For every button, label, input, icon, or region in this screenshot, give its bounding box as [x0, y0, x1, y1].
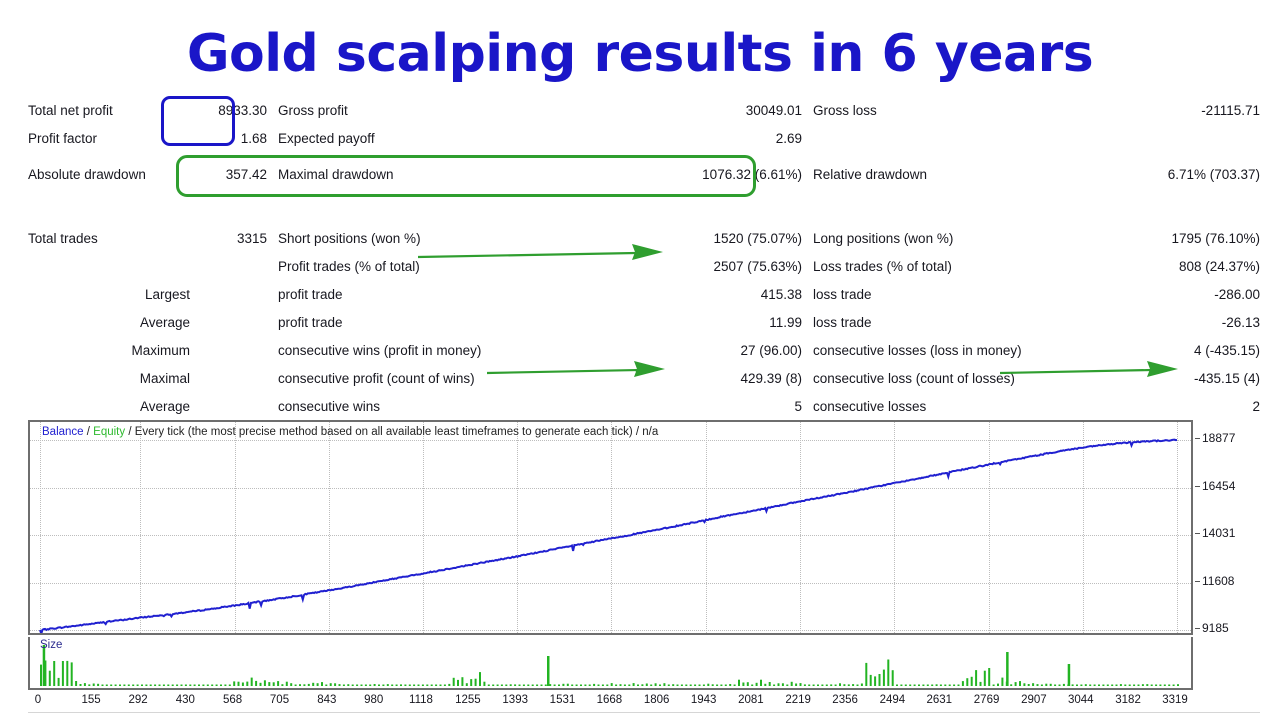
- y-axis-tick: 18877: [1202, 431, 1235, 445]
- table-row: Maximal consecutive profit (count of win…: [28, 364, 1260, 392]
- size-bar: [567, 684, 569, 686]
- size-bar: [1142, 684, 1144, 686]
- size-bar: [321, 682, 323, 686]
- size-bar: [88, 684, 90, 686]
- row-label-mid: Maximal drawdown: [273, 152, 668, 196]
- size-bar: [255, 681, 257, 686]
- size-bar: [167, 685, 169, 687]
- strategy-report-table: Total net profit 8933.30 Gross profit 30…: [28, 96, 1260, 420]
- size-bar: [997, 684, 999, 686]
- size-bar: [694, 685, 696, 687]
- size-bar: [84, 683, 86, 686]
- size-bar: [1050, 684, 1052, 686]
- row-value-right: -286.00: [1108, 280, 1260, 308]
- size-bar: [128, 685, 130, 687]
- row-label-right: Long positions (won %): [808, 224, 1108, 252]
- size-bar: [194, 685, 196, 687]
- size-bar: [387, 684, 389, 686]
- size-bar: [391, 685, 393, 687]
- size-bar: [277, 681, 279, 686]
- row-label-right: Relative drawdown: [808, 152, 1108, 196]
- row-label-mid: Gross profit: [273, 96, 668, 124]
- size-bar: [1151, 685, 1153, 687]
- size-bar: [936, 684, 938, 686]
- size-bar: [246, 682, 248, 686]
- size-bar: [251, 678, 253, 686]
- size-bar: [1146, 684, 1148, 686]
- y-axis-tick: 14031: [1202, 526, 1235, 540]
- size-bar: [663, 683, 665, 686]
- size-bar: [764, 684, 766, 686]
- table-row: Profit trades (% of total) 2507 (75.63%)…: [28, 252, 1260, 280]
- row-label: Profit factor: [28, 124, 198, 152]
- size-bar: [299, 684, 301, 686]
- size-bar: [1102, 685, 1104, 687]
- size-bar: [791, 682, 793, 686]
- size-bar: [1076, 685, 1078, 687]
- size-bar: [593, 684, 595, 686]
- size-bar: [488, 685, 490, 687]
- x-axis-tick: 2219: [785, 694, 811, 706]
- size-bar: [615, 685, 617, 687]
- row-label-mid: profit trade: [273, 280, 668, 308]
- size-bar: [238, 682, 240, 686]
- size-bar: [909, 685, 911, 687]
- size-bar: [545, 685, 547, 687]
- size-bar: [150, 685, 152, 687]
- size-bar: [747, 682, 749, 686]
- size-bar: [1045, 684, 1047, 686]
- size-bar: [703, 685, 705, 687]
- x-axis-tick: 1531: [550, 694, 576, 706]
- size-bar-peak: [547, 656, 550, 686]
- size-bar: [233, 681, 235, 686]
- size-bar: [541, 685, 543, 687]
- row-value-right: 1795 (76.10%): [1108, 224, 1260, 252]
- size-bar: [900, 685, 902, 687]
- size-bar: [62, 661, 64, 686]
- x-axis-tick: 3044: [1068, 694, 1094, 706]
- size-bar: [1177, 684, 1179, 686]
- size-bar: [461, 677, 463, 686]
- size-bar: [527, 685, 529, 687]
- size-bar: [172, 685, 174, 687]
- size-bar: [497, 685, 499, 687]
- row-label-right: Gross loss: [808, 96, 1108, 124]
- size-bar: [896, 685, 898, 687]
- size-bar: [1023, 683, 1025, 686]
- size-bar: [580, 685, 582, 687]
- row-value-mid: 2.69: [668, 124, 808, 152]
- size-bar: [53, 661, 55, 686]
- size-bar: [628, 685, 630, 687]
- size-bar: [1072, 684, 1074, 686]
- size-bar: [659, 685, 661, 687]
- size-bar: [685, 685, 687, 687]
- size-bar: [431, 685, 433, 687]
- size-bar: [273, 682, 275, 686]
- size-bar: [562, 684, 564, 686]
- legend-sep-2: /: [125, 426, 135, 438]
- row-label: Maximum: [28, 336, 198, 364]
- size-bar: [106, 685, 108, 687]
- row-value: 3315: [198, 224, 273, 252]
- size-bar: [532, 685, 534, 687]
- size-bar: [817, 685, 819, 687]
- size-subchart-panel[interactable]: Size: [28, 637, 1193, 690]
- size-bar: [347, 684, 349, 686]
- size-bar: [119, 685, 121, 687]
- size-bar: [554, 685, 556, 687]
- row-label: Average: [28, 392, 198, 420]
- x-axis-tick: 430: [176, 694, 195, 706]
- x-axis-tick: 155: [82, 694, 101, 706]
- size-bar: [1120, 684, 1122, 686]
- x-axis-tick: 705: [270, 694, 289, 706]
- x-axis-tick: 568: [223, 694, 242, 706]
- size-bar: [1041, 685, 1043, 687]
- size-bar: [624, 685, 626, 687]
- size-bar: [958, 685, 960, 687]
- equity-chart-panel[interactable]: Balance / Equity / Every tick (the most …: [28, 420, 1193, 635]
- size-bar: [584, 685, 586, 687]
- size-bar: [97, 684, 99, 686]
- row-label: Total net profit: [28, 96, 198, 124]
- row-value-right: 808 (24.37%): [1108, 252, 1260, 280]
- x-axis: 0155292430568705843980111812551393153116…: [28, 694, 1193, 714]
- legend-sep-1: /: [84, 426, 94, 438]
- legend-sep-3: /: [633, 426, 643, 438]
- x-axis-tick: 2769: [974, 694, 1000, 706]
- size-bar: [281, 684, 283, 686]
- size-bar: [971, 677, 973, 686]
- size-bar: [699, 685, 701, 687]
- size-bar: [1111, 685, 1113, 687]
- size-bar: [839, 683, 841, 686]
- size-bar: [980, 682, 982, 686]
- size-bar: [49, 671, 51, 686]
- size-bar: [435, 685, 437, 687]
- size-bar: [1015, 682, 1017, 686]
- size-bar: [857, 685, 859, 687]
- size-bar: [374, 684, 376, 686]
- legend-equity[interactable]: Equity: [93, 426, 125, 438]
- size-bar: [378, 685, 380, 687]
- x-axis-tick: 3182: [1115, 694, 1141, 706]
- size-bar: [813, 685, 815, 687]
- size-bar: [712, 684, 714, 686]
- row-label: Total trades: [28, 224, 198, 252]
- row-label-mid: Expected payoff: [273, 124, 668, 152]
- x-axis-tick: 1806: [644, 694, 670, 706]
- size-bar: [773, 685, 775, 687]
- size-bar: [861, 684, 863, 687]
- size-bar: [216, 685, 218, 687]
- size-bar: [962, 681, 964, 686]
- size-bar: [988, 668, 990, 686]
- x-axis-tick: 1255: [455, 694, 481, 706]
- size-bar: [804, 684, 806, 686]
- size-bar: [220, 685, 222, 687]
- size-bar: [1129, 685, 1131, 687]
- row-value: [198, 392, 273, 420]
- size-bar: [966, 678, 968, 686]
- size-bar: [1116, 685, 1118, 687]
- row-label-right: loss trade: [808, 280, 1108, 308]
- row-label: Average: [28, 308, 198, 336]
- size-bar: [892, 670, 894, 686]
- row-value-mid: 2507 (75.63%): [668, 252, 808, 280]
- size-bar: [681, 685, 683, 687]
- size-bar: [800, 683, 802, 686]
- row-label: Absolute drawdown: [28, 152, 198, 196]
- size-bar: [536, 685, 538, 687]
- size-bar: [905, 685, 907, 687]
- size-bar: [466, 683, 468, 686]
- row-value-mid: 1076.32 (6.61%): [668, 152, 808, 196]
- size-bar: [501, 685, 503, 687]
- row-label-mid: consecutive wins (profit in money): [273, 336, 668, 364]
- x-axis-tick: 1118: [409, 694, 433, 706]
- size-label: Size: [40, 639, 62, 651]
- legend-balance[interactable]: Balance: [42, 426, 84, 438]
- size-bar: [181, 685, 183, 687]
- size-bar: [132, 685, 134, 687]
- size-bar-peak: [1068, 664, 1071, 686]
- y-axis: 188771645414031116089185: [1196, 420, 1280, 635]
- size-bar: [1168, 685, 1170, 687]
- x-axis-tick: 2631: [927, 694, 953, 706]
- size-bar: [303, 684, 305, 686]
- size-bar: [198, 685, 200, 687]
- size-bar: [589, 685, 591, 687]
- size-bar: [115, 685, 117, 687]
- row-value-mid: 5: [668, 392, 808, 420]
- size-bar: [268, 682, 270, 686]
- size-bar: [830, 684, 832, 686]
- size-bar: [1054, 685, 1056, 687]
- size-bar: [448, 684, 450, 686]
- row-value-mid: 429.39 (8): [668, 364, 808, 392]
- row-value-right: -26.13: [1108, 308, 1260, 336]
- x-axis-tick: 843: [317, 694, 336, 706]
- size-bar: [576, 685, 578, 687]
- y-axis-tick: 11608: [1202, 574, 1234, 588]
- size-bar: [641, 684, 643, 686]
- size-bar: [944, 685, 946, 687]
- x-axis-tick: 1668: [597, 694, 623, 706]
- size-bar: [1094, 685, 1096, 687]
- balance-line: [40, 440, 1177, 633]
- size-bar: [409, 685, 411, 687]
- row-value: [198, 280, 273, 308]
- size-bar: [738, 680, 740, 686]
- size-bar: [290, 683, 292, 686]
- size-bar: [835, 685, 837, 687]
- size-bar: [883, 670, 885, 686]
- size-bar: [1155, 685, 1157, 687]
- x-axis-tick: 2907: [1021, 694, 1047, 706]
- size-bar: [382, 685, 384, 687]
- size-bar: [918, 685, 920, 687]
- size-bar: [1098, 685, 1100, 687]
- row-value: 8933.30: [198, 96, 273, 124]
- size-bar: [778, 683, 780, 686]
- size-bar-max: [43, 645, 46, 686]
- size-bar: [720, 685, 722, 687]
- size-bar: [606, 685, 608, 687]
- balance-equity-curve: [30, 422, 1191, 633]
- size-bar: [66, 661, 68, 686]
- size-bar: [453, 678, 455, 686]
- size-bar: [229, 685, 231, 687]
- size-bar: [940, 685, 942, 687]
- size-bar: [734, 685, 736, 687]
- size-bar: [949, 685, 951, 687]
- row-value-right: -435.15 (4): [1108, 364, 1260, 392]
- legend-spread: n/a: [642, 426, 658, 438]
- size-bar: [914, 685, 916, 687]
- size-bar: [650, 685, 652, 687]
- row-value-right: [1108, 124, 1260, 152]
- size-bar: [865, 663, 867, 686]
- size-bar: [931, 685, 933, 687]
- bottom-divider: [28, 712, 1260, 713]
- size-bar: [953, 685, 955, 687]
- table-row: Average profit trade 11.99 loss trade -2…: [28, 308, 1260, 336]
- row-label-mid: Short positions (won %): [273, 224, 668, 252]
- table-row: Total trades 3315 Short positions (won %…: [28, 224, 1260, 252]
- size-bar: [993, 685, 995, 687]
- size-bar: [71, 662, 73, 686]
- size-bar: [808, 685, 810, 687]
- x-axis-tick: 3319: [1162, 694, 1188, 706]
- size-bar: [505, 685, 507, 687]
- row-value: 357.42: [198, 152, 273, 196]
- size-bar: [492, 685, 494, 687]
- size-bar: [879, 674, 881, 686]
- size-bar: [887, 660, 889, 687]
- size-bar: [975, 670, 977, 686]
- row-label-right: consecutive losses (loss in money): [808, 336, 1108, 364]
- size-bar: [1138, 685, 1140, 687]
- x-axis-tick: 1393: [502, 694, 528, 706]
- size-bar: [1001, 678, 1003, 686]
- row-value-right: 6.71% (703.37): [1108, 152, 1260, 196]
- size-bar-peak: [1006, 652, 1009, 686]
- size-bar: [637, 685, 639, 687]
- size-bar: [1133, 685, 1135, 687]
- y-axis-tick: 16454: [1202, 479, 1235, 493]
- row-value-mid: 11.99: [668, 308, 808, 336]
- size-bar: [602, 685, 604, 687]
- size-bar: [440, 685, 442, 687]
- size-bar: [102, 685, 104, 687]
- size-bar: [1085, 684, 1087, 686]
- size-bar: [707, 684, 709, 686]
- size-bar: [510, 684, 512, 686]
- size-bar: [1059, 685, 1061, 687]
- size-bar: [558, 685, 560, 687]
- row-value-right: 2: [1108, 392, 1260, 420]
- size-bar: [295, 685, 297, 687]
- size-bar: [795, 684, 797, 687]
- size-bar: [75, 681, 77, 686]
- size-bar: [396, 685, 398, 687]
- size-bar: [264, 680, 266, 686]
- size-bar: [80, 684, 82, 686]
- size-bar: [286, 682, 288, 686]
- size-bar: [668, 685, 670, 687]
- row-value-mid: 1520 (75.07%): [668, 224, 808, 252]
- size-bar: [40, 665, 42, 686]
- size-bar: [93, 684, 95, 687]
- size-bar: [110, 685, 112, 687]
- size-bar: [1037, 684, 1039, 686]
- size-bar: [189, 685, 191, 687]
- size-bar: [308, 684, 310, 686]
- size-bar: [1173, 685, 1175, 687]
- size-bar: [369, 685, 371, 687]
- size-bar: [185, 685, 187, 687]
- x-axis-tick: 0: [35, 694, 41, 706]
- size-bar: [352, 685, 354, 687]
- row-value: [198, 364, 273, 392]
- size-bar: [852, 684, 854, 686]
- size-bar: [870, 675, 872, 686]
- x-axis-tick: 2356: [832, 694, 858, 706]
- size-bar: [751, 685, 753, 687]
- row-value: [198, 252, 273, 280]
- size-bar: [123, 685, 125, 687]
- x-axis-tick: 980: [364, 694, 383, 706]
- row-value-mid: 27 (96.00): [668, 336, 808, 364]
- size-bar: [716, 685, 718, 687]
- size-bar: [1159, 685, 1161, 687]
- size-bar: [317, 683, 319, 686]
- size-bar: [843, 684, 845, 686]
- size-bar: [1028, 684, 1030, 686]
- size-bar: [426, 685, 428, 687]
- table-row: Average consecutive wins 5 consecutive l…: [28, 392, 1260, 420]
- size-bar: [400, 684, 402, 686]
- legend-model: Every tick (the most precise method base…: [135, 426, 633, 438]
- table-row: Profit factor 1.68 Expected payoff 2.69: [28, 124, 1260, 152]
- size-bar: [922, 685, 924, 687]
- x-axis-tick: 2081: [738, 694, 764, 706]
- size-bar: [457, 680, 459, 686]
- size-bar: [475, 679, 477, 686]
- size-bar: [1080, 685, 1082, 687]
- size-bar: [176, 685, 178, 687]
- size-bar: [927, 685, 929, 687]
- size-bar: [984, 671, 986, 686]
- row-value-right: -21115.71: [1108, 96, 1260, 124]
- size-bar: [782, 683, 784, 686]
- size-bar: [655, 683, 657, 686]
- size-bar: [725, 685, 727, 687]
- y-axis-tick: 9185: [1202, 621, 1229, 635]
- size-bar: [418, 685, 420, 687]
- size-bar: [361, 685, 363, 687]
- x-axis-tick: 292: [128, 694, 147, 706]
- row-label-right: loss trade: [808, 308, 1108, 336]
- x-axis-tick: 1943: [691, 694, 717, 706]
- size-bar: [571, 685, 573, 687]
- size-bar: [470, 679, 472, 686]
- size-bar: [163, 685, 165, 687]
- size-bar: [1107, 685, 1109, 687]
